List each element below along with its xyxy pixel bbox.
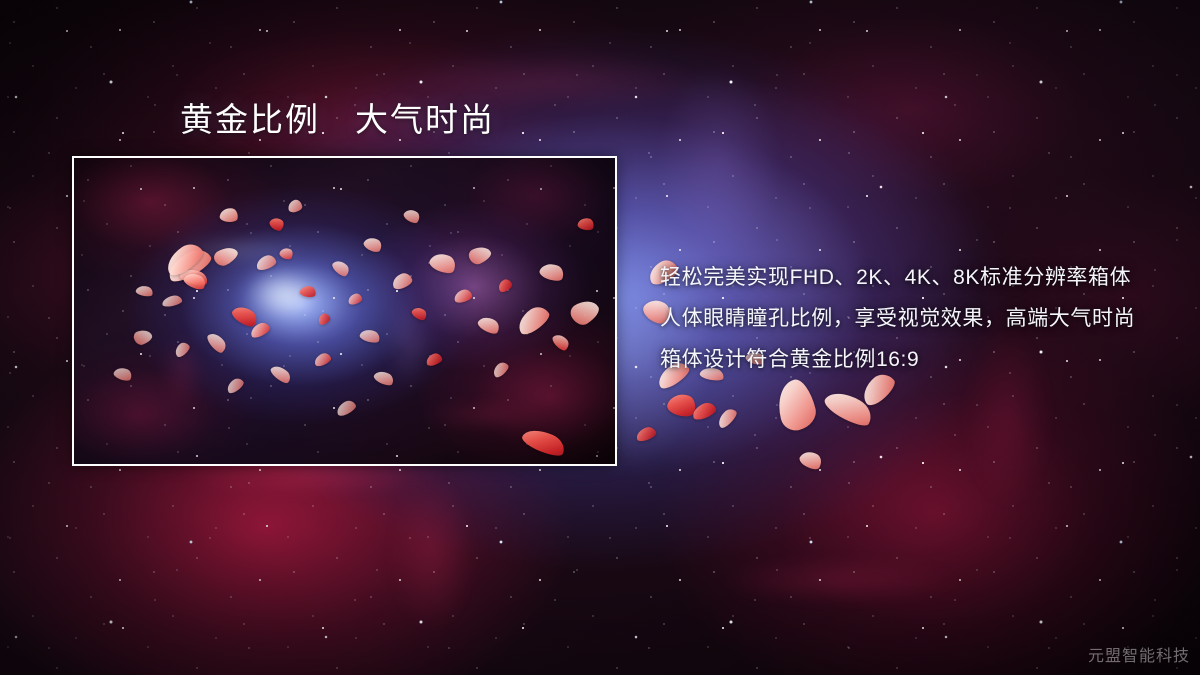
company-watermark: 元盟智能科技 <box>1088 647 1190 667</box>
body-line-1: 轻松完美实现FHD、2K、4K、8K标准分辨率箱体 <box>660 257 1180 298</box>
petal <box>690 400 717 421</box>
petal <box>715 406 739 430</box>
body-line-3: 箱体设计符合黄金比例16:9 <box>660 339 1180 380</box>
petal <box>821 385 876 431</box>
body-text-block: 轻松完美实现FHD、2K、4K、8K标准分辨率箱体 人体眼睛瞳孔比例，享受视觉效… <box>660 257 1180 380</box>
panel-vignette <box>74 158 615 464</box>
slide-title: 黄金比例 大气时尚 <box>180 100 495 140</box>
petal <box>797 448 824 473</box>
image-frame <box>72 156 617 466</box>
petal <box>772 376 819 433</box>
petal <box>635 425 658 443</box>
body-line-2: 人体眼睛瞳孔比例，享受视觉效果，高端大气时尚 <box>660 298 1180 339</box>
petal <box>665 390 698 420</box>
presentation-slide: 黄金比例 大气时尚 轻松完美实现FHD、2K、4K、8K标准分辨率箱体 人体眼睛… <box>0 0 1200 675</box>
